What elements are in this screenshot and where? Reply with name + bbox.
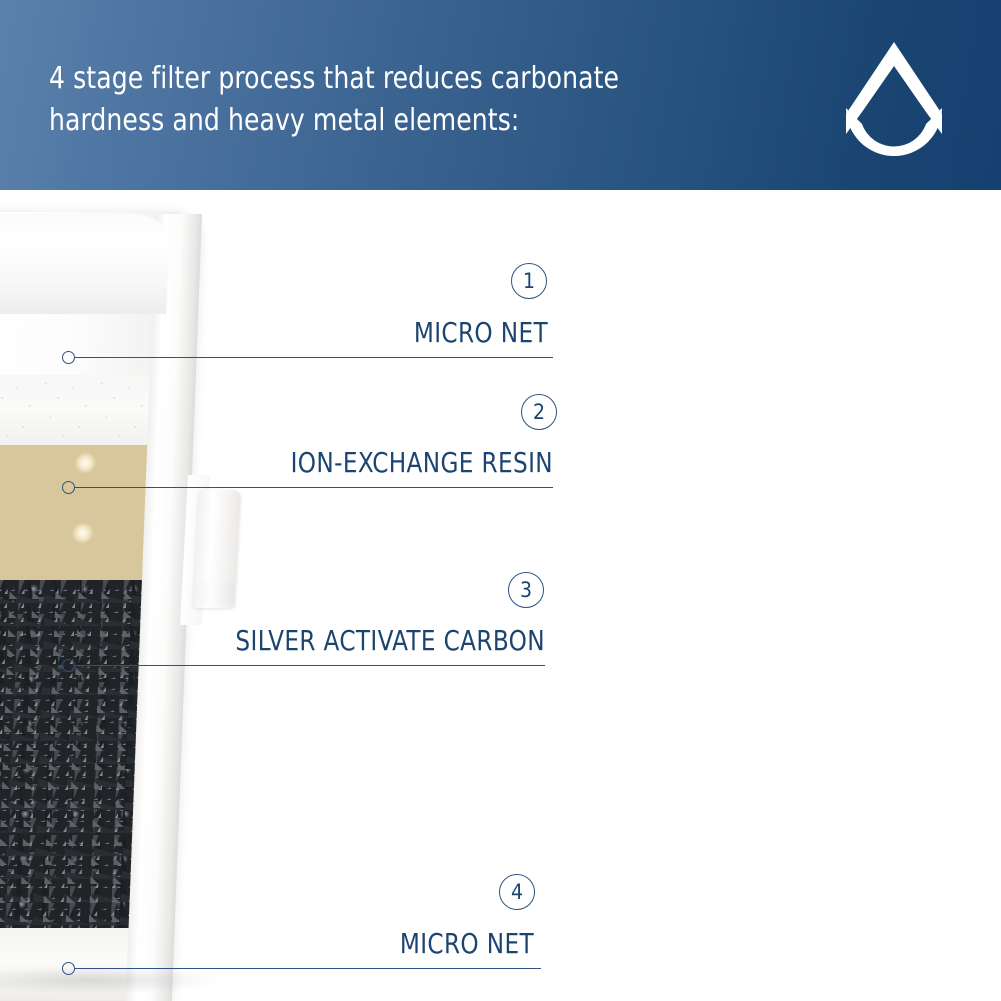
callout-1-dot (62, 351, 75, 364)
callout-2-line (75, 487, 553, 488)
page-title: 4 stage filter process that reduces carb… (49, 58, 728, 142)
callout-3-label: SILVER ACTIVATE CARBON (44, 624, 545, 657)
callout-4-label: MICRO NET (43, 927, 534, 960)
callout-1-number: 1 (511, 263, 547, 299)
callout-4-number: 4 (499, 874, 535, 910)
callout-2-number: 2 (521, 394, 557, 430)
callout-1-line (75, 357, 553, 358)
callout-2-dot (62, 481, 75, 494)
cartridge-lid (0, 214, 170, 314)
callout-1-label: MICRO NET (44, 316, 548, 349)
water-droplet-icon (838, 38, 950, 160)
filter-cartridge-photo (0, 190, 300, 1001)
cartridge-tab-nub (195, 582, 234, 604)
callout-4-dot (62, 962, 75, 975)
layer-micro-net-top (0, 375, 172, 445)
callout-3-line (75, 665, 545, 666)
callout-3-number: 3 (508, 572, 544, 608)
header-banner: 4 stage filter process that reduces carb… (0, 0, 1001, 190)
callout-3-dot (62, 659, 75, 672)
callout-4-line (75, 968, 541, 969)
callout-2-label: ION-EXCHANGE RESIN (44, 446, 553, 479)
cartridge-shadow (0, 960, 300, 1000)
